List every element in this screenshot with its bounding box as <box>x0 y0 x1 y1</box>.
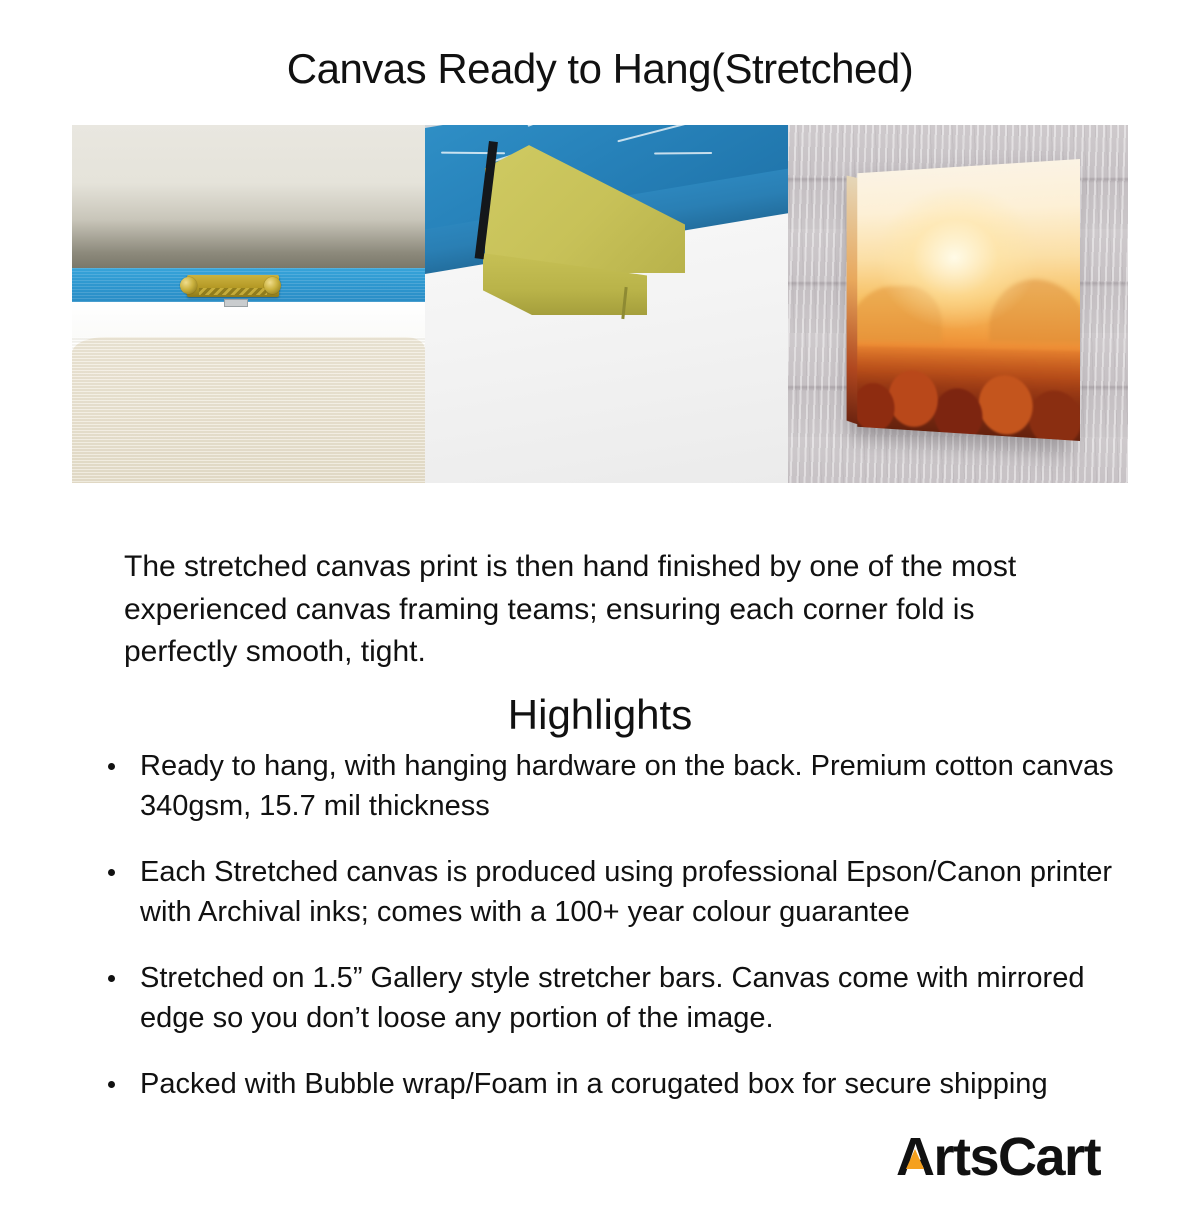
highlights-list: Ready to hang, with hanging hardware on … <box>104 746 1114 1130</box>
bullet-dot-icon <box>108 975 115 982</box>
bullet-dot-icon <box>108 1081 115 1088</box>
page-title: Canvas Ready to Hang(Stretched) <box>0 28 1200 90</box>
list-item: Stretched on 1.5” Gallery style stretche… <box>104 958 1114 1038</box>
product-image-canvas-back-hanging-hardware[interactable] <box>72 125 425 483</box>
logo-letter-a-text: A <box>896 1127 934 1187</box>
logo-letter-a: A <box>896 1130 934 1184</box>
hanger-screw-left-icon <box>180 277 197 294</box>
photo1-metal-clip <box>224 299 248 307</box>
photo3-foreground-foliage <box>857 346 1080 441</box>
hanger-screw-right-icon <box>264 277 281 294</box>
bullet-dot-icon <box>108 763 115 770</box>
artscart-logo[interactable]: ArtsCart <box>896 1130 1100 1184</box>
photo3-stretched-canvas <box>857 159 1080 441</box>
list-item: Each Stretched canvas is produced using … <box>104 852 1114 932</box>
list-item-text: Stretched on 1.5” Gallery style stretche… <box>140 962 1084 1034</box>
photo3-sun-glow <box>877 182 1037 329</box>
logo-rest-text: rtsCart <box>934 1127 1101 1187</box>
photo1-white-band <box>72 302 425 342</box>
product-image-canvas-corner-fold[interactable] <box>425 125 788 483</box>
photo1-canvas-surface <box>72 337 425 483</box>
bullet-dot-icon <box>108 869 115 876</box>
list-item-text: Ready to hang, with hanging hardware on … <box>140 750 1114 822</box>
highlights-heading: Highlights <box>0 691 1200 739</box>
list-item-text: Each Stretched canvas is produced using … <box>140 856 1112 928</box>
photo1-background-wall <box>72 125 425 277</box>
list-item-text: Packed with Bubble wrap/Foam in a coruga… <box>140 1068 1048 1100</box>
product-image-strip <box>72 125 1128 483</box>
product-image-canvas-hung-on-wall[interactable] <box>788 125 1128 483</box>
list-item: Ready to hang, with hanging hardware on … <box>104 746 1114 826</box>
photo3-canvas-print-face <box>857 159 1080 441</box>
intro-paragraph: The stretched canvas print is then hand … <box>124 546 1064 674</box>
list-item: Packed with Bubble wrap/Foam in a coruga… <box>104 1064 1114 1104</box>
